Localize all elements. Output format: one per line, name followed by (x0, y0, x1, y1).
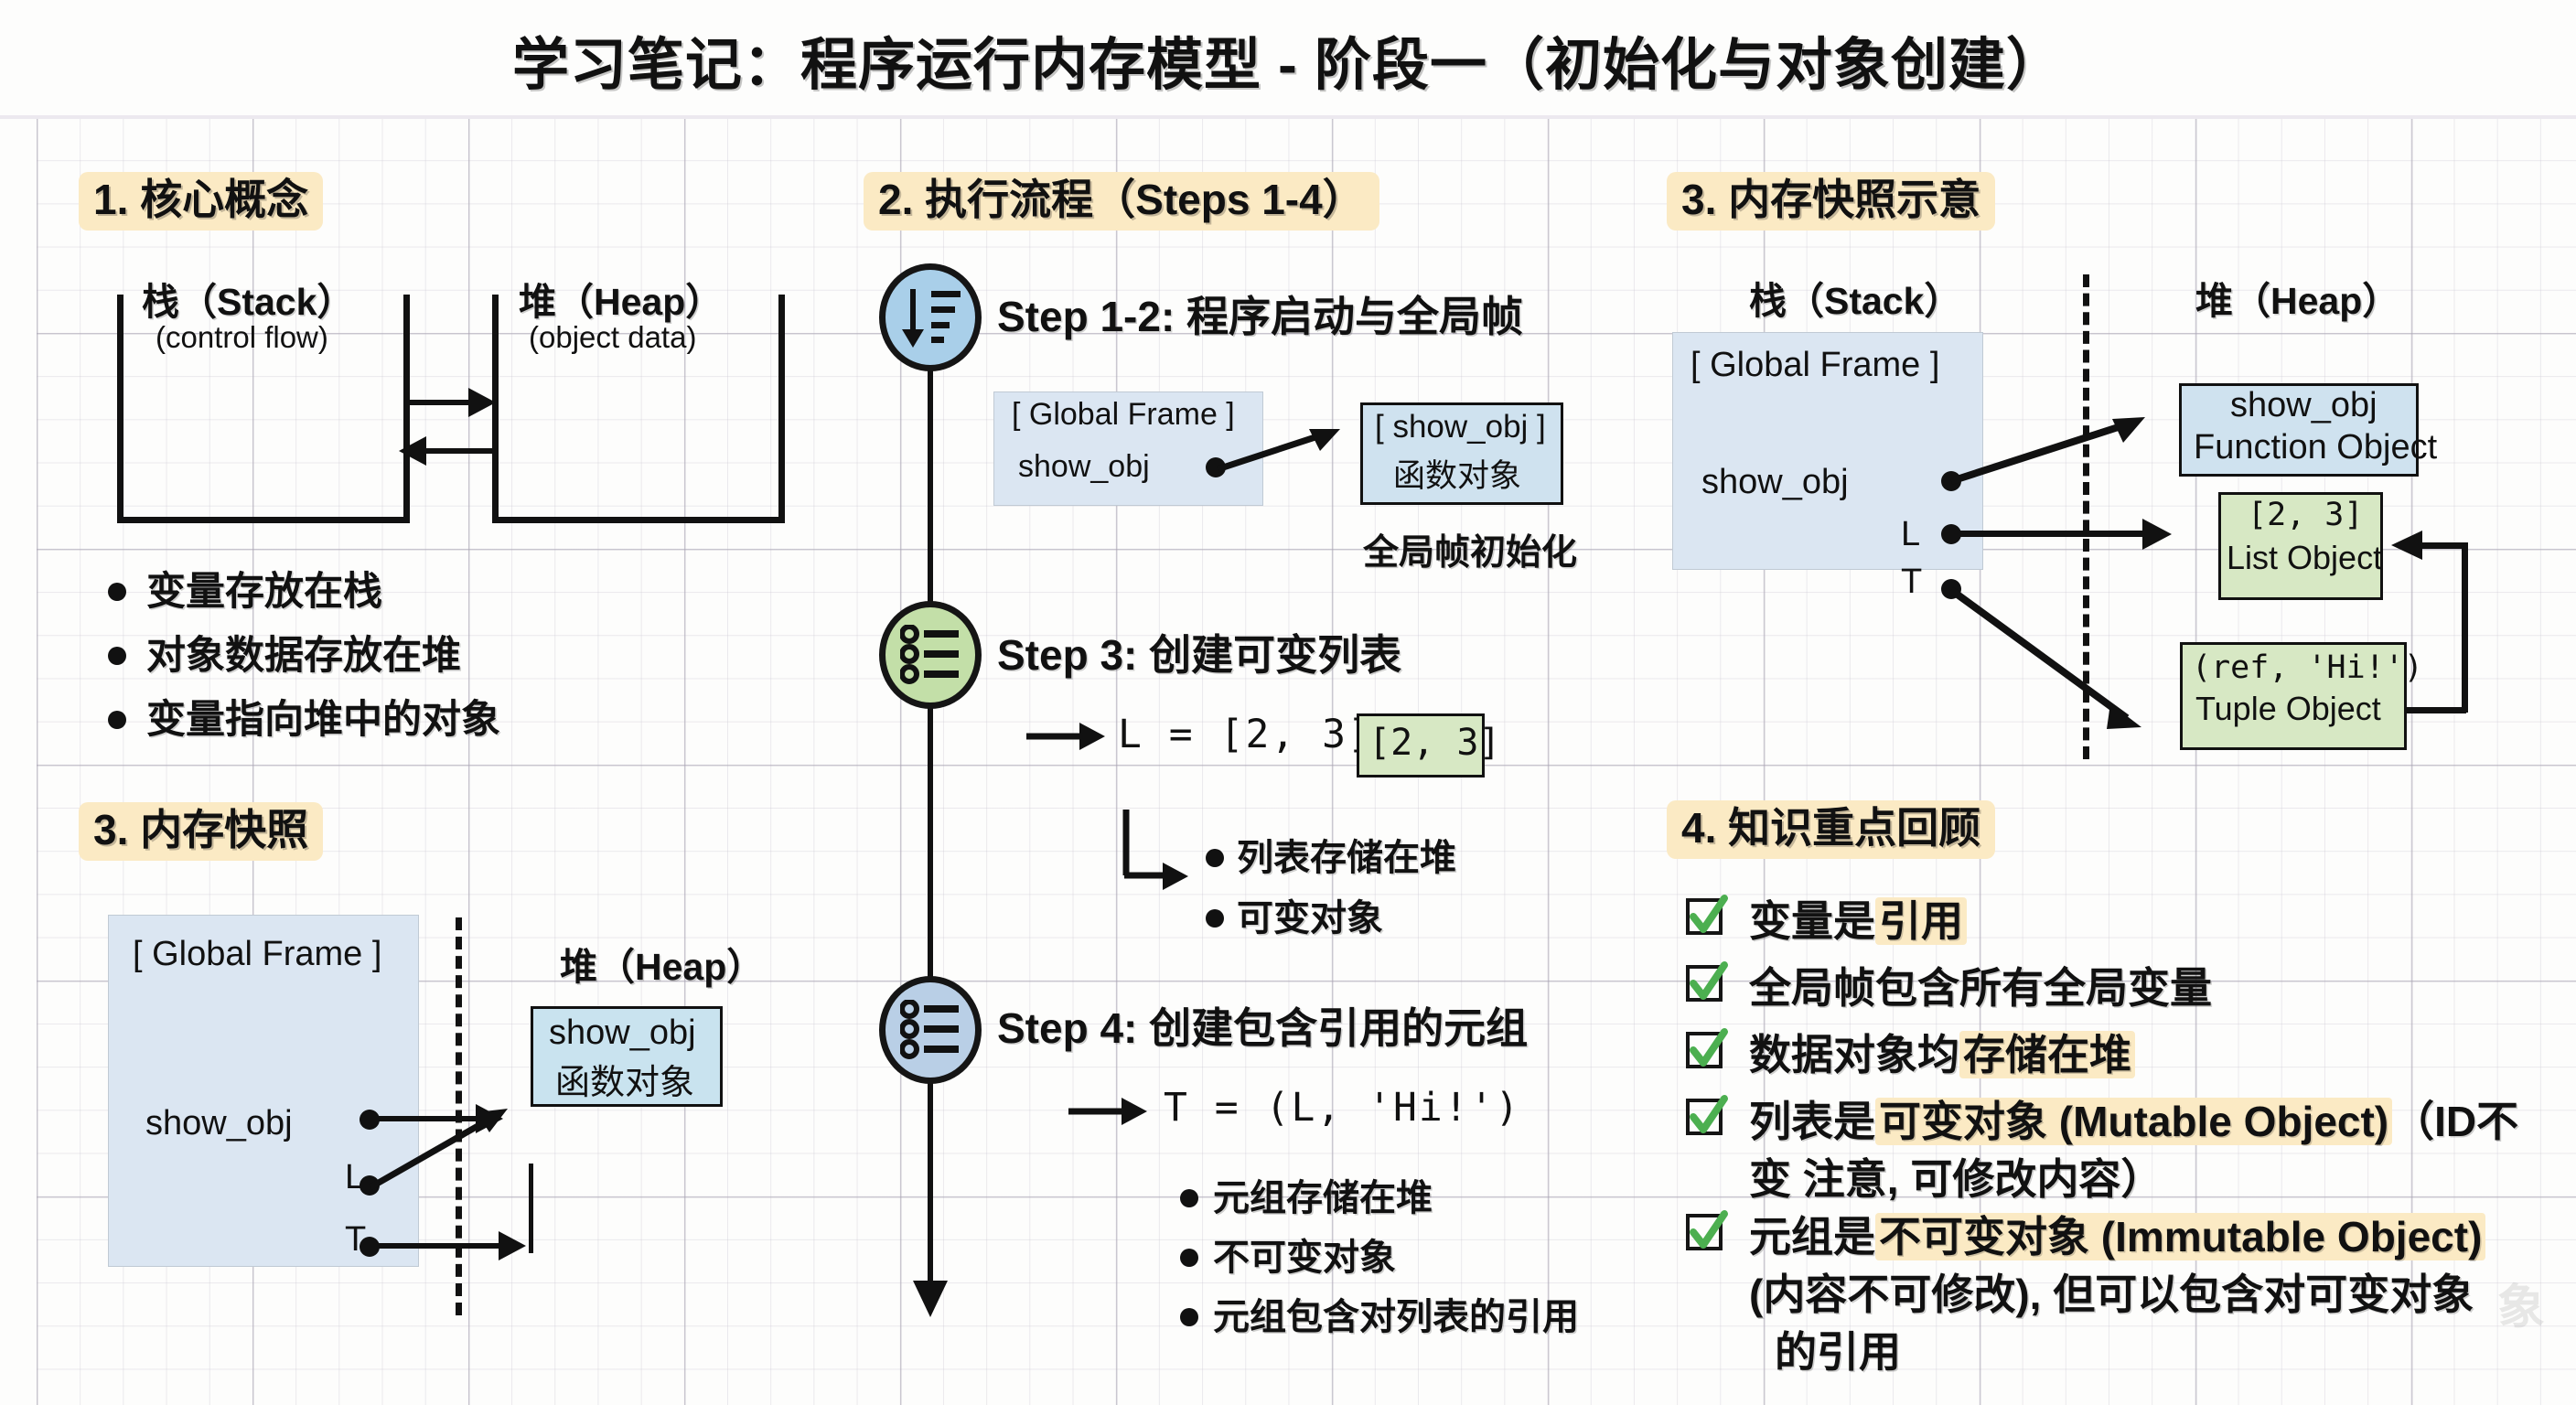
key-point-3-post: （ID不 (2392, 1098, 2518, 1145)
core-bullet-0: 变量存放在栈 (146, 560, 382, 617)
timeline-spine (928, 325, 933, 1299)
step-3-code-arrow (1026, 713, 1109, 759)
bullet-dot (1180, 1189, 1198, 1207)
checkbox-icon (1686, 1099, 1723, 1135)
section-heading-memory-snapshot-left: 3. 内存快照 (79, 802, 323, 861)
var-label-show-obj-left: show_obj (145, 1104, 293, 1143)
key-point-0-pre: 变量是 (1749, 897, 1875, 945)
step-1-2-frame-var: show_obj (1018, 449, 1150, 485)
key-point-3-pre: 列表是 (1749, 1098, 1875, 1145)
heap-object-line1-left: show_obj (549, 1014, 696, 1053)
key-point-2-pre: 数据对象均 (1749, 1031, 1959, 1078)
checkbox-icon (1686, 1032, 1723, 1068)
heap-object-tuple-line1: (ref, 'Hi!') (2192, 649, 2423, 686)
key-point-4-mark: 不可变对象 (Immutable Object) (1875, 1213, 2485, 1260)
step-4-bullet-1: 不可变对象 (1213, 1228, 1396, 1281)
key-point-0-mark: 引用 (1875, 897, 1967, 945)
step-1-2-caption: 全局帧初始化 (1363, 524, 1577, 575)
key-point-3: 列表是可变对象 (Mutable Object)（ID不 (1749, 1089, 2518, 1149)
tuple-to-list-ref-vertical (2462, 542, 2468, 713)
checkbox-icon (1686, 898, 1723, 935)
heap-label: 堆（Heap） (519, 271, 723, 326)
tuple-to-list-ref-top (2422, 542, 2466, 549)
section-heading-key-points: 4. 知识重点回顾 (1667, 800, 1995, 859)
step-4-code: T = (L, 'Hi!') (1164, 1085, 1520, 1131)
checkbox-icon (1686, 1214, 1723, 1250)
step-1-2-arrow (1212, 416, 1358, 489)
stack-to-heap-arrow-head (468, 384, 505, 421)
var-label-show-obj-right: show_obj (1701, 463, 1849, 502)
heap-to-stack-arrow-head (395, 433, 432, 469)
stack-label: 栈（Stack） (142, 271, 354, 326)
step-1-2-object-line1: [ show_obj ] (1375, 409, 1546, 445)
heap-label-left: 堆（Heap） (560, 936, 764, 991)
key-point-3-continuation: 变 注意, 可修改内容） (1749, 1146, 2163, 1207)
arrow-t-left-shaft (373, 1243, 515, 1249)
arrow-l-right-shaft (1956, 531, 2163, 537)
arrow-l-right-head (2142, 515, 2181, 553)
key-point-4-continuation-1: (内容不可修改), 但可以包含对可变对象 (1749, 1261, 2474, 1322)
heap-object-function-line1: show_obj (2230, 386, 2377, 425)
core-bullet-2: 变量指向堆中的对象 (146, 688, 500, 745)
key-point-4: 元组是不可变对象 (Immutable Object) (1749, 1204, 2485, 1264)
page-title: 学习笔记：程序运行内存模型 - 阶段一（初始化与对象创建） (0, 18, 2576, 101)
key-point-0: 变量是引用 (1749, 888, 1967, 949)
watermark: 象 (2497, 1269, 2545, 1337)
stack-sublabel: (control flow) (156, 320, 328, 355)
list-icon (900, 1000, 964, 1062)
step-4-bullet-0: 元组存储在堆 (1213, 1168, 1433, 1221)
step-4-code-arrow (1068, 1089, 1151, 1134)
bullet-dot (1206, 849, 1224, 867)
bullet-dot (1206, 909, 1224, 928)
stack-right-wall (403, 295, 410, 523)
heap-marker-bar-left (529, 1164, 533, 1253)
step-4-bullet-2: 元组包含对列表的引用 (1213, 1287, 1579, 1340)
global-frame-title-right: [ Global Frame ] (1690, 346, 1939, 385)
heap-object-function-line2: Function Object (2194, 428, 2437, 467)
core-bullet-1: 对象数据存放在堆 (146, 624, 461, 681)
heap-object-tuple-line2: Tuple Object (2195, 690, 2381, 728)
section-heading-core-concepts: 1. 核心概念 (79, 172, 323, 231)
step-3-bullet-0: 列表存储在堆 (1237, 828, 1456, 881)
key-point-4-continuation-2: 的引用 (1775, 1319, 1901, 1379)
arrow-l-left-diagonal (361, 1089, 526, 1198)
key-point-2-mark: 存储在堆 (1959, 1031, 2135, 1078)
tuple-to-list-ref-bottom (2404, 707, 2466, 713)
stack-bottom-wall (117, 517, 410, 523)
step-3-list-chip-label: [2, 3] (1368, 722, 1501, 764)
arrow-t-right (1944, 581, 2173, 745)
tuple-to-list-ref-arrowhead (2384, 529, 2424, 565)
global-frame-title-left: [ Global Frame ] (133, 935, 381, 974)
step-1-2-title: Step 1-2: 程序启动与全局帧 (997, 284, 1523, 344)
var-label-t-right: T (1901, 563, 1922, 602)
key-point-1: 全局帧包含所有全局变量 (1749, 955, 2212, 1015)
timeline-end-arrow (909, 1281, 951, 1323)
step-3-bullet-1: 可变对象 (1237, 888, 1383, 941)
step-1-2-frame-title: [ Global Frame ] (1012, 397, 1235, 433)
heap-object-line2-left: 函数对象 (555, 1054, 694, 1104)
bullet-dot (108, 711, 126, 729)
step-3-code: L = [2, 3] (1118, 712, 1373, 757)
heap-label-right: 堆（Heap） (2195, 270, 2399, 325)
title-underline-rule (0, 115, 2576, 119)
checkbox-icon (1686, 965, 1723, 1002)
arrow-show-obj-right (1944, 393, 2182, 494)
heap-sublabel: (object data) (529, 320, 696, 355)
bullet-dot (1180, 1308, 1198, 1326)
section-heading-memory-snapshot-right: 3. 内存快照示意 (1667, 172, 1995, 231)
key-point-2: 数据对象均存储在堆 (1749, 1022, 2135, 1082)
key-point-4-pre: 元组是 (1749, 1213, 1875, 1260)
bullet-dot (108, 583, 126, 601)
heap-object-list-line1: [2, 3] (2248, 497, 2363, 533)
step-3-title: Step 3: 创建可变列表 (997, 622, 1401, 682)
var-label-l-right: L (1901, 515, 1920, 554)
stack-label-right: 栈（Stack） (1749, 270, 1961, 325)
step-3-elbow-connector (1121, 810, 1194, 892)
heap-object-list-line2: List Object (2227, 539, 2382, 577)
bullet-dot (1180, 1249, 1198, 1267)
heap-right-wall (778, 295, 785, 523)
step-1-2-object-line2: 函数对象 (1393, 450, 1521, 497)
step-4-title: Step 4: 创建包含引用的元组 (997, 995, 1528, 1056)
key-point-3-mark: 可变对象 (Mutable Object) (1875, 1098, 2392, 1145)
notebook-page: 学习笔记：程序运行内存模型 - 阶段一（初始化与对象创建） 1. 核心概念 栈（… (0, 0, 2576, 1405)
section-heading-execution-flow: 2. 执行流程（Steps 1-4） (864, 172, 1379, 231)
list-icon (900, 625, 964, 687)
bullet-dot (108, 647, 126, 665)
heap-bottom-wall (492, 517, 785, 523)
sort-descending-icon (898, 284, 964, 351)
stack-left-wall (117, 295, 123, 523)
